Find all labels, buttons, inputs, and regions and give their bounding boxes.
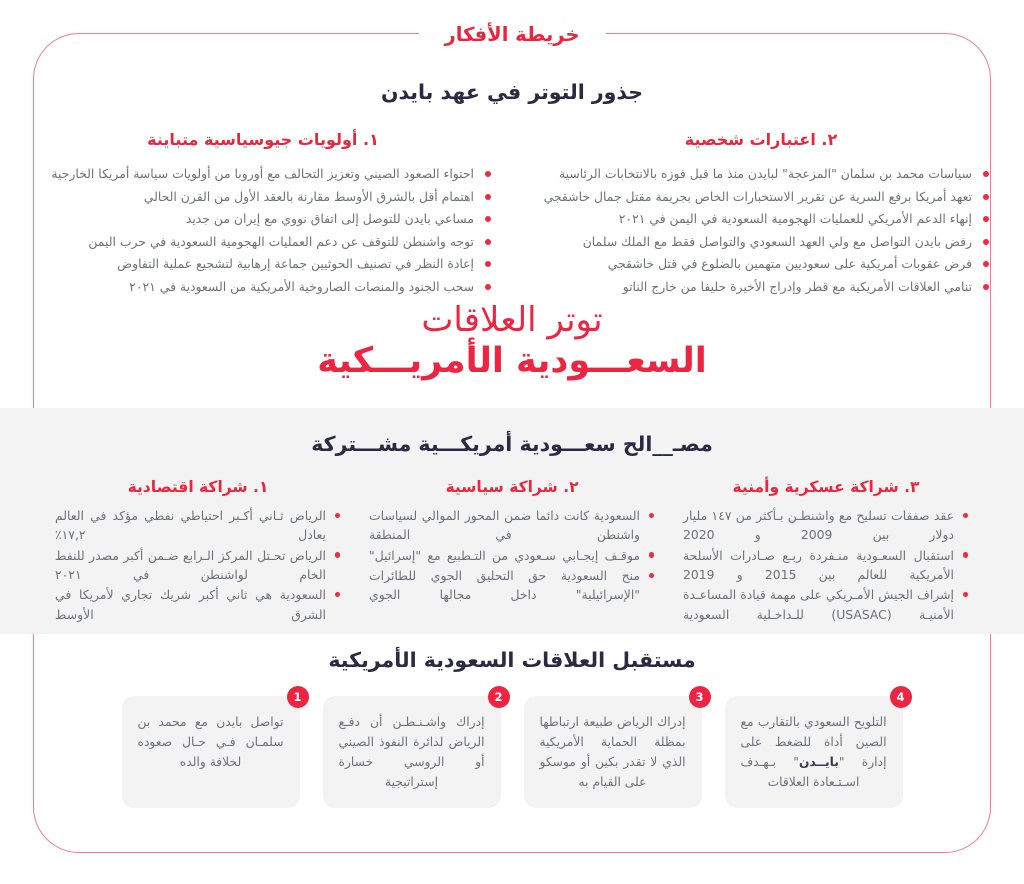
middle-column-economic: ١. شراكة اقتصادية الرياض ثـاني أكـبر احت…	[55, 478, 341, 625]
top-section: جذور التوتر في عهد بايدن ٢. اعتبارات شخص…	[0, 80, 1024, 298]
header-band: خريطة الأفكار	[0, 33, 1024, 35]
middle-column-heading: ٣. شراكة عسكرية وأمنية	[683, 478, 969, 496]
list-item: إعادة النظر في تصنيف الحوثيين جماعة إرها…	[34, 253, 492, 276]
card-number-badge: 1	[287, 686, 309, 708]
page-title: خريطة الأفكار	[419, 25, 606, 45]
future-section: مستقبل العلاقات السعودية الأمريكية 4 الت…	[0, 648, 1024, 808]
card-number-badge: 4	[890, 686, 912, 708]
middle-section-title: مصـ__الح سعـــودية أمريكـــية مشـــتركة	[0, 408, 1024, 456]
card-text: التلويح السعودي بالتقارب مع الصين أداة ل…	[741, 713, 887, 793]
list-item: استقبال السعـودية منـفردة ربـع صـادرات ا…	[683, 546, 969, 585]
list-item: الرياض تحـتل المركز الـرابع ضـمن أكبر مص…	[55, 546, 341, 585]
top-column-geopolitical: ١. أولويات جيوسياسية متباينة احتواء الصع…	[34, 130, 492, 298]
list-item: منح السعودية حق التحليق الجوي للطائرات "…	[369, 566, 655, 605]
middle-column-bullets: عقد صفقات تسليح مع واشنطـن بـأكثر من ١٤٧…	[683, 506, 969, 624]
main-title: توتر العلاقات السعـــودية الأمريـــكية	[0, 300, 1024, 382]
middle-column-heading: ٢. شراكة سياسية	[369, 478, 655, 496]
list-item: تعهد أمريكا برفع السرية عن تقرير الاستخب…	[532, 186, 990, 209]
future-card-2: 2 إدراك واشـنـطـن أن دفـع الرياض لدائرة …	[323, 696, 501, 808]
list-item: سياسات محمد بن سلمان "المزعجة" لبايدن من…	[532, 163, 990, 186]
top-column-heading: ٢. اعتبارات شخصية	[532, 130, 990, 149]
list-item: إنهاء الدعم الأمريكي للعمليات الهجومية ا…	[532, 208, 990, 231]
list-item: احتواء الصعود الصيني وتعزيز التحالف مع أ…	[34, 163, 492, 186]
card-text-prefix: إدراك الرياض طبيعة ارتباطها بمظلة الحماي…	[540, 715, 686, 789]
middle-column-bullets: السعودية كانت دائما ضمن المحور الموالي ل…	[369, 506, 655, 605]
top-column-heading: ١. أولويات جيوسياسية متباينة	[34, 130, 492, 149]
card-text: تواصل بايدن مع محمد بن سلمـان فـي حـال ص…	[138, 713, 284, 773]
card-number-badge: 2	[488, 686, 510, 708]
top-column-bullets: سياسات محمد بن سلمان "المزعجة" لبايدن من…	[532, 163, 990, 298]
top-column-personal: ٢. اعتبارات شخصية سياسات محمد بن سلمان "…	[532, 130, 990, 298]
list-item: سحب الجنود والمنصات الصاروخية الأمريكية …	[34, 276, 492, 299]
middle-column-political: ٢. شراكة سياسية السعودية كانت دائما ضمن …	[369, 478, 655, 625]
future-card-3: 3 إدراك الرياض طبيعة ارتباطها بمظلة الحم…	[524, 696, 702, 808]
list-item: السعودية هي ثاني أكبر شريك تجاري لأمريكا…	[55, 585, 341, 624]
list-item: فرض عقوبات أمريكية على سعوديين متهمين با…	[532, 253, 990, 276]
card-text-prefix: إدراك واشـنـطـن أن دفـع الرياض لدائرة ال…	[339, 715, 485, 789]
shared-interests-section: مصـ__الح سعـــودية أمريكـــية مشـــتركة …	[0, 408, 1024, 634]
main-title-line2: السعـــودية الأمريـــكية	[0, 340, 1024, 382]
card-text-bold: بايــدن	[799, 755, 839, 769]
middle-column-heading: ١. شراكة اقتصادية	[55, 478, 341, 496]
middle-column-military: ٣. شراكة عسكرية وأمنية عقد صفقات تسليح م…	[683, 478, 969, 625]
list-item: مساعي بايدن للتوصل إلى اتفاق نووي مع إير…	[34, 208, 492, 231]
future-card-1: 1 تواصل بايدن مع محمد بن سلمـان فـي حـال…	[122, 696, 300, 808]
card-number-badge: 3	[689, 686, 711, 708]
list-item: السعودية كانت دائما ضمن المحور الموالي ل…	[369, 506, 655, 545]
future-cards: 4 التلويح السعودي بالتقارب مع الصين أداة…	[0, 696, 1024, 808]
list-item: توجه واشنطن للتوقف عن دعم العمليات الهجو…	[34, 231, 492, 254]
list-item: رفض بايدن التواصل مع ولي العهد السعودي و…	[532, 231, 990, 254]
list-item: إشراف الجيش الأمـريكي على مهمة قيادة الم…	[683, 585, 969, 624]
future-section-title: مستقبل العلاقات السعودية الأمريكية	[0, 648, 1024, 672]
top-columns: ٢. اعتبارات شخصية سياسات محمد بن سلمان "…	[0, 130, 1024, 298]
middle-columns: ٣. شراكة عسكرية وأمنية عقد صفقات تسليح م…	[0, 456, 1024, 625]
list-item: الرياض ثـاني أكـبر احتياطي نفطي مؤكد في …	[55, 506, 341, 545]
list-item: اهتمام أقل بالشرق الأوسط مقارنة بالعقد ا…	[34, 186, 492, 209]
list-item: موقـف إيجـابي سـعودي من التـطبيع مع "إسر…	[369, 546, 655, 565]
main-title-line1: توتر العلاقات	[0, 300, 1024, 340]
card-text: إدراك الرياض طبيعة ارتباطها بمظلة الحماي…	[540, 713, 686, 793]
middle-column-bullets: الرياض ثـاني أكـبر احتياطي نفطي مؤكد في …	[55, 506, 341, 624]
top-section-title: جذور التوتر في عهد بايدن	[0, 80, 1024, 104]
card-text: إدراك واشـنـطـن أن دفـع الرياض لدائرة ال…	[339, 713, 485, 793]
card-text-prefix: تواصل بايدن مع محمد بن سلمـان فـي حـال ص…	[138, 715, 284, 769]
future-card-4: 4 التلويح السعودي بالتقارب مع الصين أداة…	[725, 696, 903, 808]
infographic-root: خريطة الأفكار جذور التوتر في عهد بايدن ٢…	[0, 0, 1024, 884]
list-item: تنامي العلاقات الأمريكية مع قطر وإدراج ا…	[532, 276, 990, 299]
list-item: عقد صفقات تسليح مع واشنطـن بـأكثر من ١٤٧…	[683, 506, 969, 545]
top-column-bullets: احتواء الصعود الصيني وتعزيز التحالف مع أ…	[34, 163, 492, 298]
